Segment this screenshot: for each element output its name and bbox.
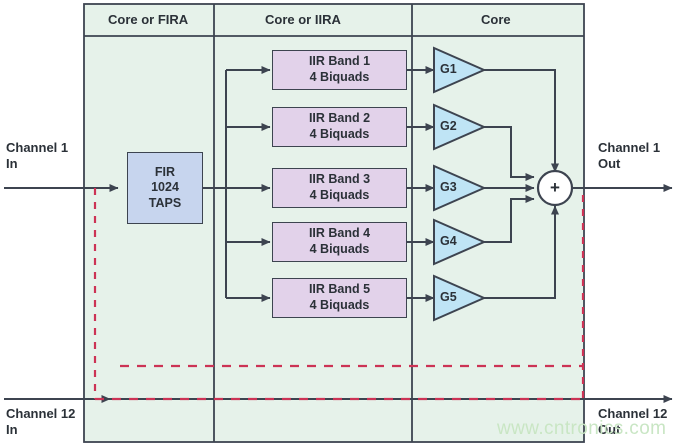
channel-1-out-line2: Out bbox=[598, 156, 660, 172]
gain-label-g3[interactable]: G3 bbox=[440, 180, 457, 194]
iir-band-2-line2: 4 Biquads bbox=[310, 127, 370, 143]
channel-1-out-label: Channel 1 Out bbox=[598, 140, 660, 172]
watermark-text: www.cntronics.com bbox=[497, 418, 666, 440]
iir-band-5-line1: IIR Band 5 bbox=[309, 282, 370, 298]
iir-band-2-line1: IIR Band 2 bbox=[309, 111, 370, 127]
diagram-canvas: Core or FIRA Core or IIRA Core FIR 1024 … bbox=[0, 0, 680, 446]
iir-band-3-block[interactable]: IIR Band 3 4 Biquads bbox=[272, 168, 407, 208]
gain-label-g5[interactable]: G5 bbox=[440, 290, 457, 304]
fir-block-line3: TAPS bbox=[149, 196, 181, 212]
header-core-or-iira: Core or IIRA bbox=[265, 12, 341, 28]
fir-block[interactable]: FIR 1024 TAPS bbox=[127, 152, 203, 224]
channel-1-in-label: Channel 1 In bbox=[6, 140, 68, 172]
channel-1-in-line1: Channel 1 bbox=[6, 140, 68, 156]
channel-1-in-line2: In bbox=[6, 156, 68, 172]
channel-1-out-line1: Channel 1 bbox=[598, 140, 660, 156]
iir-band-3-line1: IIR Band 3 bbox=[309, 172, 370, 188]
iir-band-1-line1: IIR Band 1 bbox=[309, 54, 370, 70]
header-core-or-fira: Core or FIRA bbox=[108, 12, 188, 28]
iir-band-1-line2: 4 Biquads bbox=[310, 70, 370, 86]
iir-band-4-line2: 4 Biquads bbox=[310, 242, 370, 258]
header-core: Core bbox=[481, 12, 511, 28]
iir-band-5-block[interactable]: IIR Band 5 4 Biquads bbox=[272, 278, 407, 318]
channel-12-in-label: Channel 12 In bbox=[6, 406, 75, 438]
fir-block-line1: FIR bbox=[155, 165, 175, 181]
gain-label-g2[interactable]: G2 bbox=[440, 119, 457, 133]
iir-band-4-block[interactable]: IIR Band 4 4 Biquads bbox=[272, 222, 407, 262]
summing-node-plus-label: + bbox=[550, 178, 560, 198]
iir-band-3-line2: 4 Biquads bbox=[310, 188, 370, 204]
fir-block-line2: 1024 bbox=[151, 180, 179, 196]
iir-band-1-block[interactable]: IIR Band 1 4 Biquads bbox=[272, 50, 407, 90]
gain-label-g1[interactable]: G1 bbox=[440, 62, 457, 76]
channel-12-in-line2: In bbox=[6, 422, 75, 438]
iir-band-5-line2: 4 Biquads bbox=[310, 298, 370, 314]
iir-band-2-block[interactable]: IIR Band 2 4 Biquads bbox=[272, 107, 407, 147]
gain-label-g4[interactable]: G4 bbox=[440, 234, 457, 248]
channel-12-in-line1: Channel 12 bbox=[6, 406, 75, 422]
iir-band-4-line1: IIR Band 4 bbox=[309, 226, 370, 242]
